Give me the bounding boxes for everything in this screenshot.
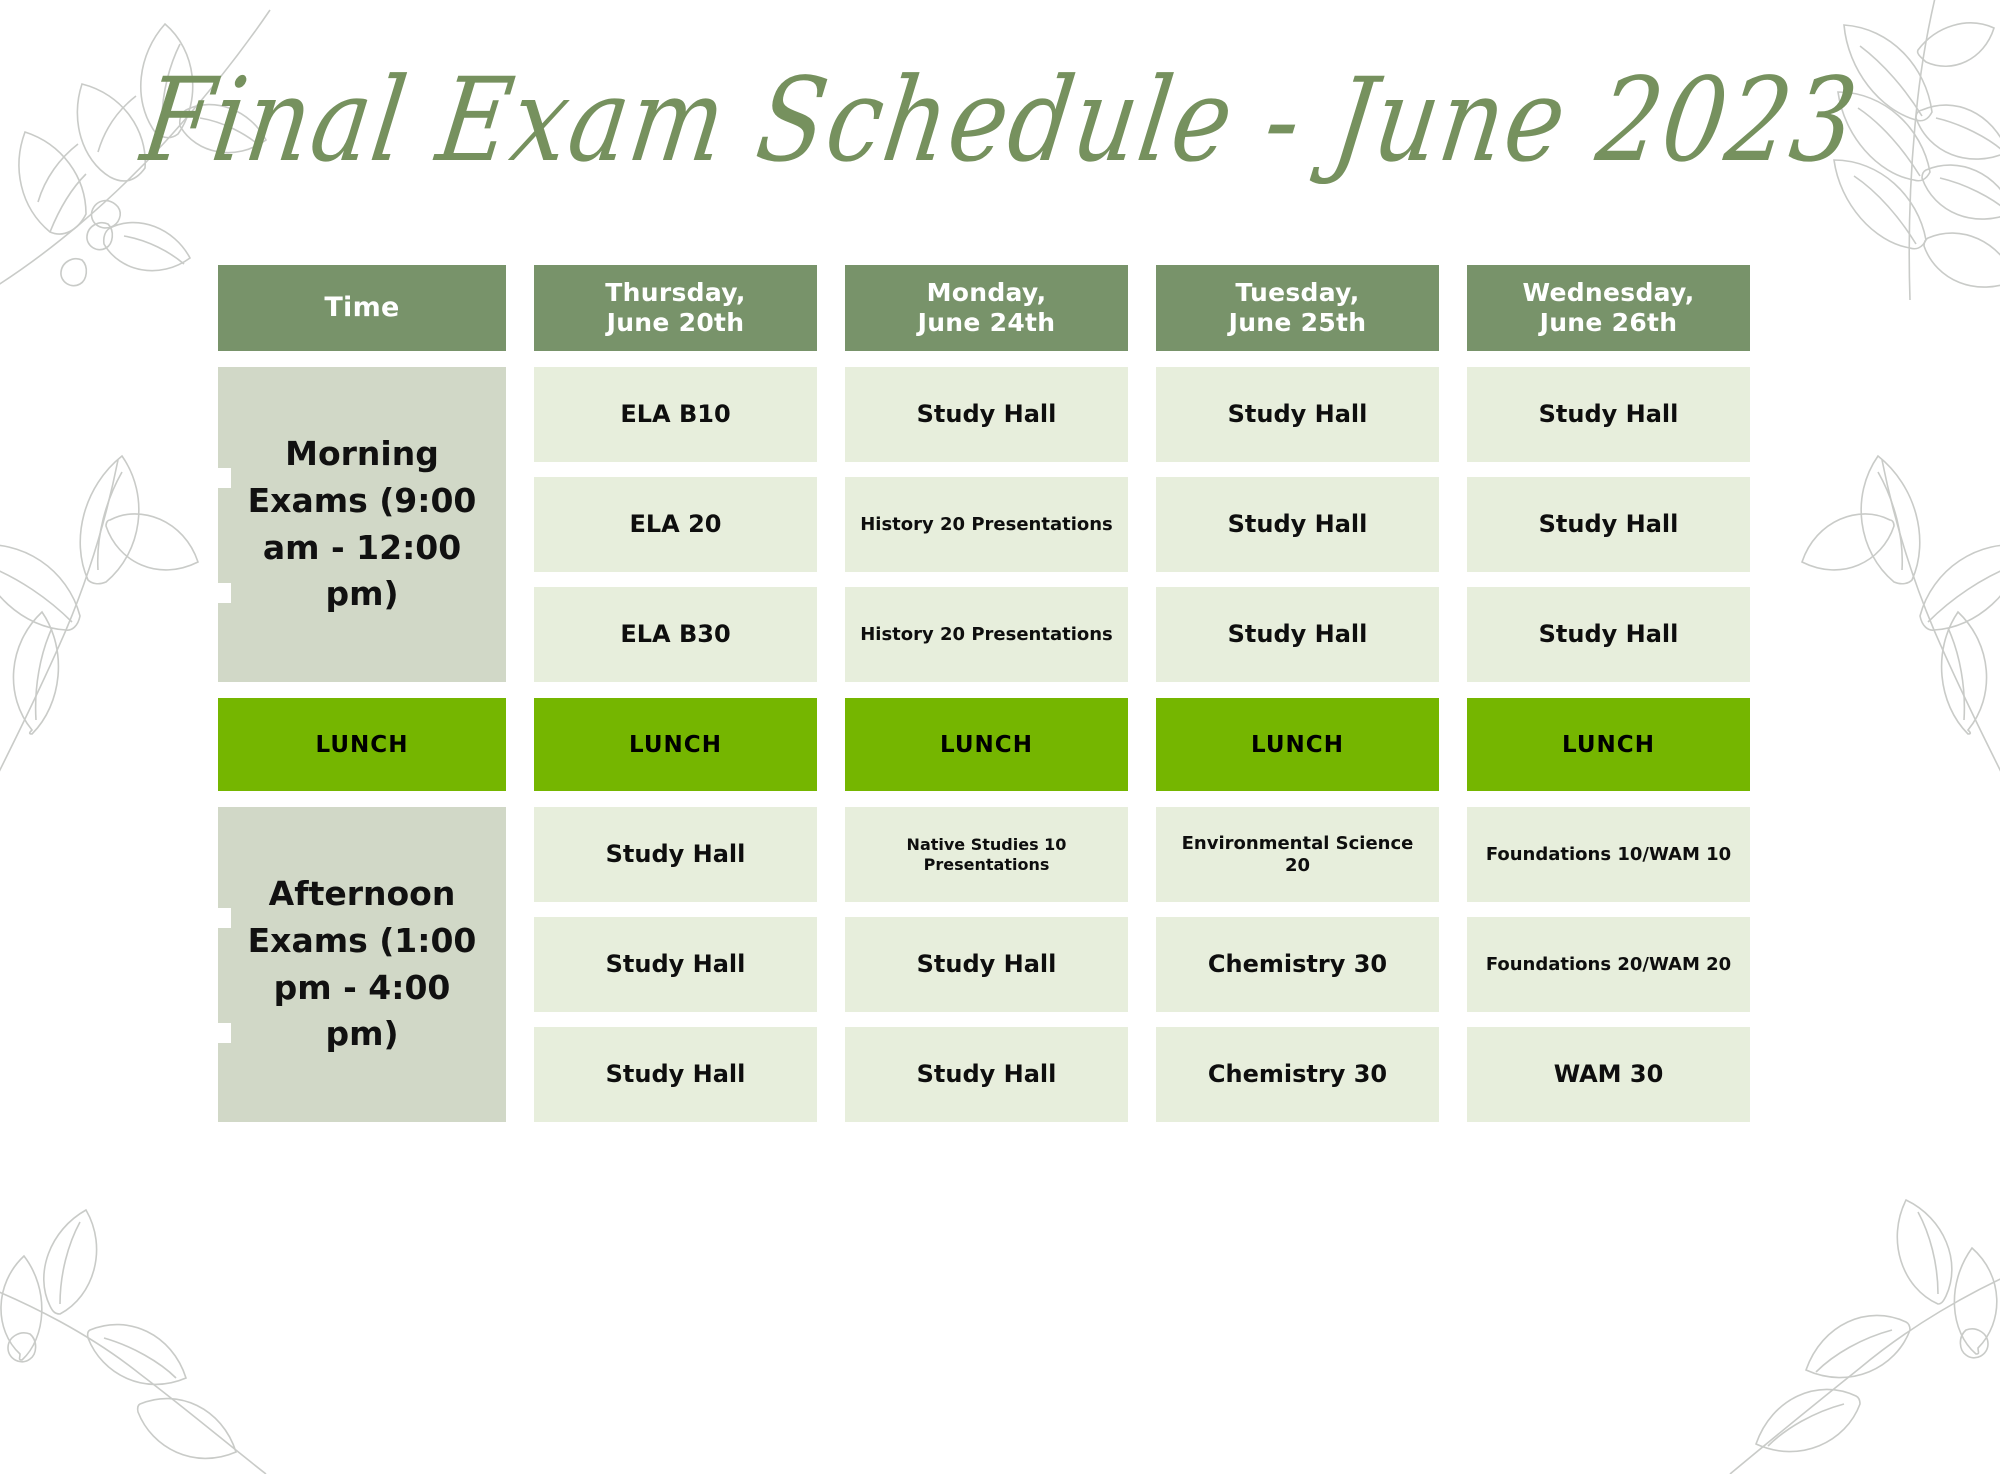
column-gap	[817, 698, 845, 791]
column-gap	[817, 917, 845, 1012]
column-gap	[817, 587, 845, 682]
cell-morning-3-wednesday: Study Hall	[1467, 587, 1750, 682]
column-gap	[1439, 477, 1467, 572]
cell-lunch-tuesday: LUNCH	[1156, 698, 1439, 791]
cell-morning-3-tuesday: Study Hall	[1156, 587, 1439, 682]
cell-afternoon-1-thursday: Study Hall	[534, 807, 817, 902]
cell-morning-3-thursday: ELA B30	[534, 587, 817, 682]
column-gap	[1439, 367, 1467, 462]
cell-lunch-time: LUNCH	[218, 698, 506, 791]
afternoon-exams-section: Afternoon Exams (1:00 pm - 4:00 pm) Stud…	[218, 807, 1764, 1122]
exam-schedule-table: Time Thursday, June 20th Monday, June 24…	[218, 265, 1764, 1122]
column-header-monday: Monday, June 24th	[845, 265, 1128, 351]
column-gap	[506, 807, 534, 1122]
table-row: Study Hall Study Hall Chemistry 30 Found…	[534, 917, 1764, 1012]
column-gap	[1128, 265, 1156, 351]
leaf-branch-bottom-left-icon	[0, 1174, 280, 1474]
cell-morning-2-thursday: ELA 20	[534, 477, 817, 572]
cell-afternoon-2-tuesday: Chemistry 30	[1156, 917, 1439, 1012]
cell-afternoon-3-tuesday: Chemistry 30	[1156, 1027, 1439, 1122]
column-gap	[506, 367, 534, 682]
cell-morning-2-wednesday: Study Hall	[1467, 477, 1750, 572]
column-gap	[1439, 265, 1467, 351]
column-gap	[1128, 1027, 1156, 1122]
column-gap	[817, 477, 845, 572]
morning-exams-section: Morning Exams (9:00 am - 12:00 pm) ELA B…	[218, 367, 1764, 682]
page-title: Final Exam Schedule - June 2023	[135, 61, 1865, 182]
table-header-row: Time Thursday, June 20th Monday, June 24…	[218, 265, 1764, 351]
table-row: Study Hall Study Hall Chemistry 30 WAM 3…	[534, 1027, 1764, 1122]
column-header-time: Time	[218, 265, 506, 351]
cell-lunch-wednesday: LUNCH	[1467, 698, 1750, 791]
column-gap	[1439, 917, 1467, 1012]
column-gap	[1128, 367, 1156, 462]
column-gap	[506, 698, 534, 791]
cell-afternoon-2-monday: Study Hall	[845, 917, 1128, 1012]
cell-afternoon-3-monday: Study Hall	[845, 1027, 1128, 1122]
column-gap	[817, 807, 845, 902]
cell-afternoon-3-wednesday: WAM 30	[1467, 1027, 1750, 1122]
cell-morning-1-tuesday: Study Hall	[1156, 367, 1439, 462]
table-row: ELA 20 History 20 Presentations Study Ha…	[534, 477, 1764, 572]
cell-afternoon-3-thursday: Study Hall	[534, 1027, 817, 1122]
column-gap	[1439, 1027, 1467, 1122]
column-gap	[817, 1027, 845, 1122]
time-label-afternoon: Afternoon Exams (1:00 pm - 4:00 pm)	[218, 807, 506, 1122]
column-header-wednesday: Wednesday, June 26th	[1467, 265, 1750, 351]
lunch-row: LUNCH LUNCH LUNCH LUNCH LUNCH	[218, 698, 1764, 791]
leaf-branch-middle-left-icon	[0, 400, 200, 820]
column-gap	[1439, 807, 1467, 902]
column-gap	[817, 265, 845, 351]
cell-morning-3-monday: History 20 Presentations	[845, 587, 1128, 682]
cell-lunch-monday: LUNCH	[845, 698, 1128, 791]
cell-morning-2-tuesday: Study Hall	[1156, 477, 1439, 572]
afternoon-rows: Study Hall Native Studies 10 Presentatio…	[534, 807, 1764, 1122]
column-header-tuesday: Tuesday, June 25th	[1156, 265, 1439, 351]
table-row: Study Hall Native Studies 10 Presentatio…	[534, 807, 1764, 902]
column-gap	[817, 367, 845, 462]
cell-morning-1-monday: Study Hall	[845, 367, 1128, 462]
time-label-morning: Morning Exams (9:00 am - 12:00 pm)	[218, 367, 506, 682]
leaf-branch-bottom-right-icon	[1710, 1174, 2000, 1474]
table-row: ELA B30 History 20 Presentations Study H…	[534, 587, 1764, 682]
cell-morning-2-monday: History 20 Presentations	[845, 477, 1128, 572]
cell-morning-1-thursday: ELA B10	[534, 367, 817, 462]
column-gap	[506, 265, 534, 351]
column-header-thursday: Thursday, June 20th	[534, 265, 817, 351]
cell-afternoon-1-wednesday: Foundations 10/WAM 10	[1467, 807, 1750, 902]
cell-afternoon-1-monday: Native Studies 10 Presentations	[845, 807, 1128, 902]
cell-afternoon-1-tuesday: Environmental Science 20	[1156, 807, 1439, 902]
column-gap	[1439, 698, 1467, 791]
column-gap	[1128, 917, 1156, 1012]
morning-rows: ELA B10 Study Hall Study Hall Study Hall…	[534, 367, 1764, 682]
table-row: ELA B10 Study Hall Study Hall Study Hall	[534, 367, 1764, 462]
leaf-branch-middle-right-icon	[1800, 400, 2000, 820]
cell-afternoon-2-wednesday: Foundations 20/WAM 20	[1467, 917, 1750, 1012]
column-gap	[1128, 587, 1156, 682]
cell-morning-1-wednesday: Study Hall	[1467, 367, 1750, 462]
cell-lunch-thursday: LUNCH	[534, 698, 817, 791]
column-gap	[1128, 477, 1156, 572]
page-title-wrapper: Final Exam Schedule - June 2023	[0, 70, 2000, 173]
column-gap	[1439, 587, 1467, 682]
column-gap	[1128, 698, 1156, 791]
column-gap	[1128, 807, 1156, 902]
cell-afternoon-2-thursday: Study Hall	[534, 917, 817, 1012]
